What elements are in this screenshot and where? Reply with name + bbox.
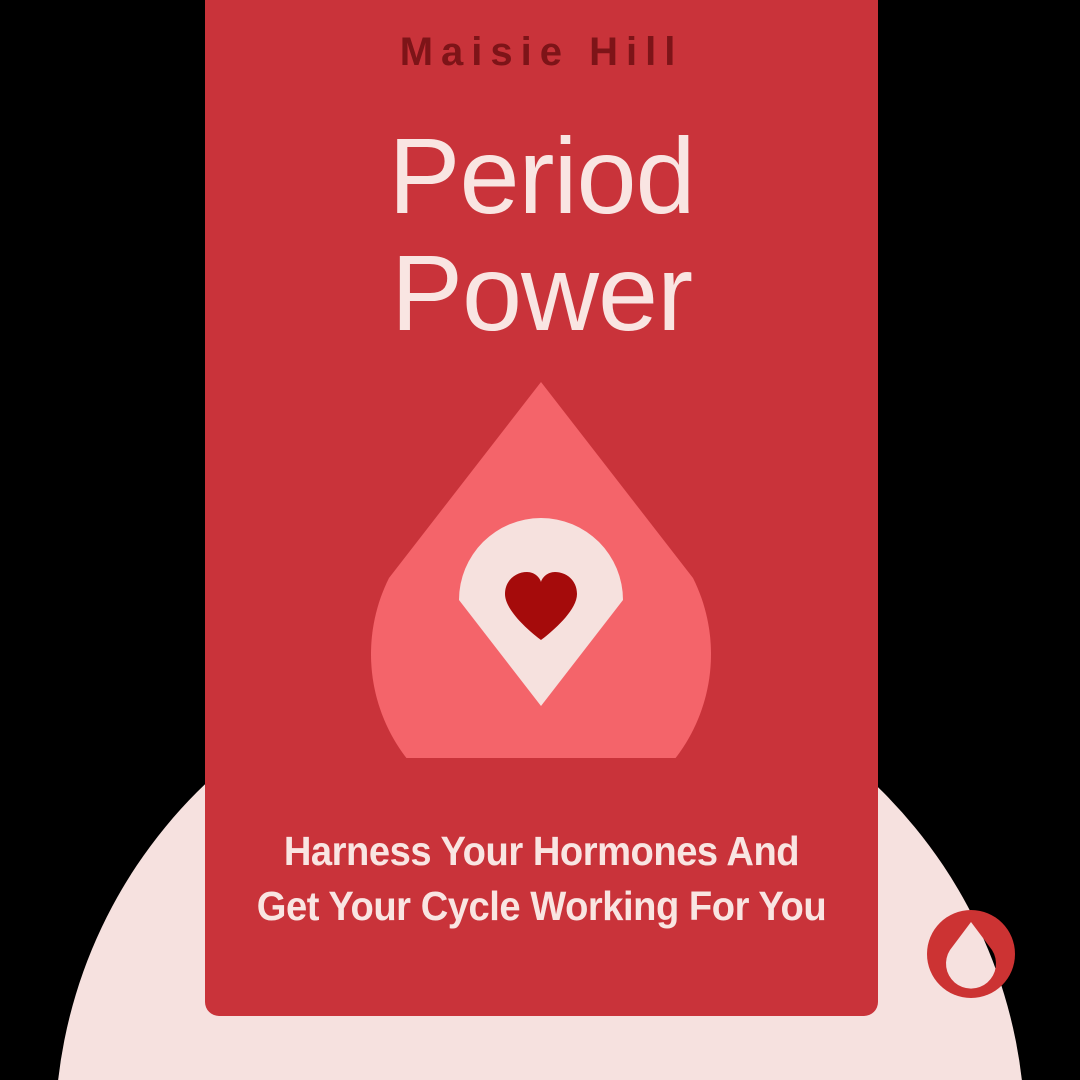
book-subtitle: Harness Your Hormones And Get Your Cycle… — [229, 824, 854, 933]
subtitle-line-1: Harness Your Hormones And — [251, 824, 832, 879]
title-line-1: Period — [205, 118, 878, 235]
blood-drop-illustration — [371, 382, 711, 758]
author-name: Maisie Hill — [205, 30, 878, 74]
page-title: Period Power — [205, 118, 878, 351]
cover-canvas: Maisie Hill Period Power Harness Your Ho… — [0, 0, 1080, 1080]
title-line-2: Power — [205, 235, 878, 352]
subtitle-line-2: Get Your Cycle Working For You — [251, 879, 832, 934]
book-cover-card[interactable]: Maisie Hill Period Power Harness Your Ho… — [205, 0, 878, 1016]
blinkist-drop-logo-icon[interactable] — [925, 908, 1017, 1000]
